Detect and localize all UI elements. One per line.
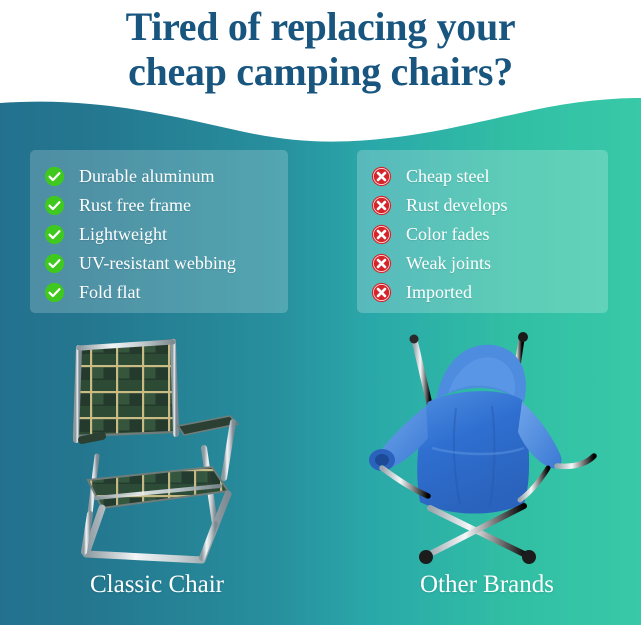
other-brands-chair-image bbox=[352, 328, 597, 568]
cons-panel: Cheap steel Rust develops Color fades bbox=[357, 150, 608, 313]
pros-item-label: Rust free frame bbox=[79, 195, 191, 216]
check-circle-icon bbox=[44, 253, 65, 274]
classic-chair-image bbox=[52, 328, 282, 568]
cons-item-label: Color fades bbox=[406, 224, 489, 245]
check-circle-icon bbox=[44, 224, 65, 245]
cons-item: Imported bbox=[371, 278, 594, 307]
page-title: Tired of replacing your cheap camping ch… bbox=[0, 4, 641, 94]
check-circle-icon bbox=[44, 166, 65, 187]
cross-circle-icon bbox=[371, 195, 392, 216]
cons-item: Color fades bbox=[371, 220, 594, 249]
classic-chair-caption: Classic Chair bbox=[32, 570, 282, 600]
cons-item-label: Rust develops bbox=[406, 195, 508, 216]
cons-item-label: Imported bbox=[406, 282, 472, 303]
cons-item: Cheap steel bbox=[371, 162, 594, 191]
pros-item-label: UV-resistant webbing bbox=[79, 253, 236, 274]
infographic-root: Tired of replacing your cheap camping ch… bbox=[0, 0, 641, 625]
pros-item: Rust free frame bbox=[44, 191, 274, 220]
pros-panel: Durable aluminum Rust free frame Lightwe… bbox=[30, 150, 288, 313]
pros-item: Durable aluminum bbox=[44, 162, 274, 191]
headline-line-2: cheap camping chairs? bbox=[0, 49, 641, 94]
cross-circle-icon bbox=[371, 224, 392, 245]
pros-item-label: Fold flat bbox=[79, 282, 141, 303]
cons-item-label: Weak joints bbox=[406, 253, 491, 274]
headline-line-1: Tired of replacing your bbox=[0, 4, 641, 49]
cons-item: Weak joints bbox=[371, 249, 594, 278]
cons-item: Rust develops bbox=[371, 191, 594, 220]
other-brands-caption: Other Brands bbox=[362, 570, 612, 600]
pros-item: Fold flat bbox=[44, 278, 274, 307]
pros-item-label: Durable aluminum bbox=[79, 166, 214, 187]
pros-item-label: Lightweight bbox=[79, 224, 167, 245]
pros-item: UV-resistant webbing bbox=[44, 249, 274, 278]
cross-circle-icon bbox=[371, 253, 392, 274]
check-circle-icon bbox=[44, 195, 65, 216]
pros-item: Lightweight bbox=[44, 220, 274, 249]
check-circle-icon bbox=[44, 282, 65, 303]
cross-circle-icon bbox=[371, 166, 392, 187]
cons-item-label: Cheap steel bbox=[406, 166, 489, 187]
cross-circle-icon bbox=[371, 282, 392, 303]
